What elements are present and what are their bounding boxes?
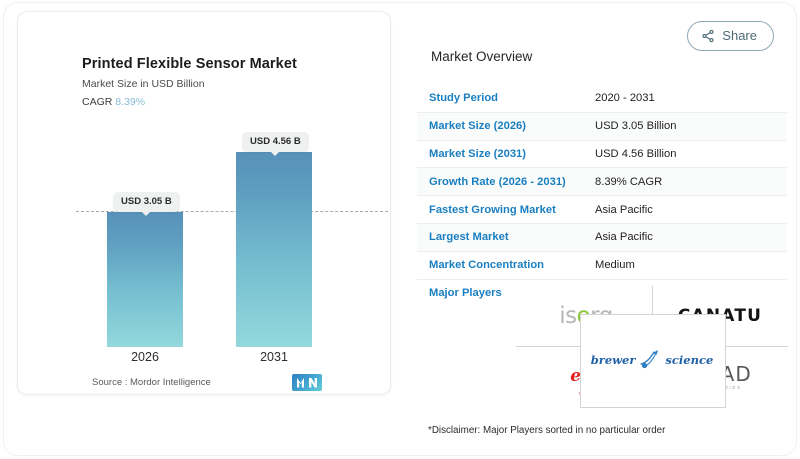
mordor-intelligence-logo [292, 374, 322, 391]
brewer-text-b: science [665, 353, 713, 367]
chart-panel: Printed Flexible Sensor Market Market Si… [17, 11, 391, 395]
share-button-label: Share [722, 28, 757, 43]
row-value: Medium [595, 259, 635, 271]
row-value: 2020 - 2031 [595, 92, 655, 104]
row-value: 8.39% CAGR [595, 176, 662, 188]
disclaimer-text: *Disclaimer: Major Players sorted in no … [428, 425, 665, 436]
market-overview-title: Market Overview [431, 49, 532, 64]
table-row: Market Size (2026) USD 3.05 Billion [417, 113, 787, 141]
row-value: USD 3.05 Billion [595, 120, 676, 132]
row-label: Market Size (2026) [417, 120, 595, 132]
logo-brewer-science: brewer science [580, 314, 724, 406]
major-players-logo-grid: isorg CANATU e eip TECHNOLOGIES QUAD IND… [516, 286, 788, 406]
chart-source: Source : Mordor Intelligence [92, 377, 211, 388]
row-value: Asia Pacific [595, 231, 653, 243]
row-label: Market Size (2031) [417, 148, 595, 160]
brewer-swoosh-icon [637, 348, 663, 373]
brewer-science-wordmark: brewer science [591, 348, 714, 373]
bar-chart-plot: USD 3.05 B USD 4.56 B 2026 2031 [18, 12, 390, 394]
x-axis-label-2026: 2026 [107, 350, 183, 364]
table-row: Growth Rate (2026 - 2031) 8.39% CAGR [417, 168, 787, 196]
table-row: Fastest Growing Market Asia Pacific [417, 196, 787, 224]
row-label: Market Concentration [417, 259, 595, 271]
row-value: USD 4.56 Billion [595, 148, 676, 160]
x-axis-label-2031: 2031 [236, 350, 312, 364]
table-row: Market Concentration Medium [417, 252, 787, 280]
row-label: Growth Rate (2026 - 2031) [417, 176, 595, 188]
table-row: Market Size (2031) USD 4.56 Billion [417, 141, 787, 169]
row-label: Fastest Growing Market [417, 204, 595, 216]
row-label: Largest Market [417, 231, 595, 243]
bar-2026[interactable] [107, 212, 183, 347]
row-label: Study Period [417, 92, 595, 104]
share-nodes-icon [701, 29, 715, 43]
brewer-text-a: brewer [591, 353, 636, 367]
market-overview-table: Study Period 2020 - 2031 Market Size (20… [417, 85, 787, 306]
table-row: Largest Market Asia Pacific [417, 224, 787, 252]
bar-label-2031: USD 4.56 B [242, 132, 309, 152]
table-row: Study Period 2020 - 2031 [417, 85, 787, 113]
report-card: Share Printed Flexible Sensor Market Mar… [4, 3, 796, 455]
isorg-text-a: is [559, 303, 576, 329]
bar-2031[interactable] [236, 152, 312, 347]
row-value: Asia Pacific [595, 204, 653, 216]
bar-label-2026: USD 3.05 B [113, 192, 180, 212]
share-button[interactable]: Share [687, 21, 774, 51]
